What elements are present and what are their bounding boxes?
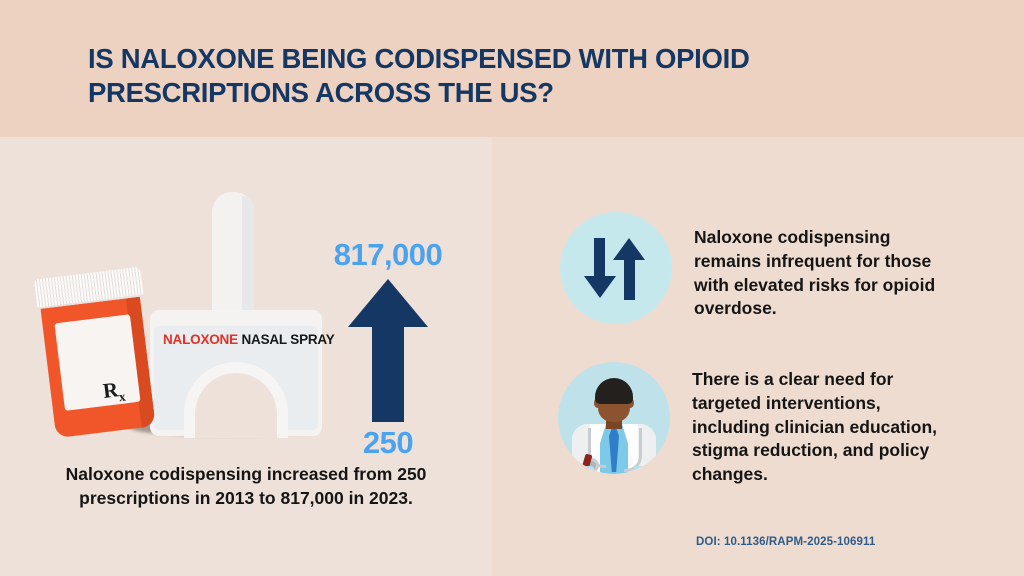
down-arrow-head (584, 276, 616, 298)
bottle-label (54, 314, 140, 411)
right-panel-background (492, 137, 1024, 576)
arrow-head (348, 279, 428, 327)
page-title: IS NALOXONE BEING CODISPENSED WITH OPIOI… (88, 42, 908, 109)
up-arrow-shaft (624, 256, 635, 300)
naloxone-nasal-spray-icon: NALOXONE NASAL SPRAY (150, 192, 340, 437)
spray-label: NALOXONE NASAL SPRAY (163, 332, 335, 347)
up-down-arrows-icon (560, 212, 672, 324)
stat-value-bottom: 250 (318, 425, 458, 461)
doi-reference[interactable]: DOI: 10.1136/RAPM-2025-106911 (696, 536, 875, 548)
up-arrow-head (613, 238, 645, 260)
finding-text-2: There is a clear need for targeted inter… (692, 362, 942, 487)
finding-item-2: There is a clear need for targeted inter… (558, 362, 942, 487)
infographic-canvas: IS NALOXONE BEING CODISPENSED WITH OPIOI… (0, 0, 1024, 576)
prescription-pill-bottle-icon: Rx (33, 267, 160, 439)
down-arrow-shaft (594, 238, 605, 280)
finding-item-1: Naloxone codispensing remains infrequent… (560, 212, 944, 324)
stat-value-top: 817,000 (318, 237, 458, 273)
doctor-cuff-left (574, 466, 594, 474)
doctor-avatar-icon (558, 362, 670, 474)
left-illustration: NALOXONE NASAL SPRAY Rx 817,000 250 (0, 137, 492, 467)
arrows-glyph (584, 238, 648, 300)
rx-symbol: Rx (102, 377, 127, 408)
arrow-shaft (372, 325, 404, 422)
doctor-cuff-right (634, 466, 656, 474)
spray-brand-text: NALOXONE (163, 332, 238, 347)
doctor-hair (595, 378, 633, 404)
doctor-glyph (558, 362, 670, 474)
finding-text-1: Naloxone codispensing remains infrequent… (694, 212, 944, 321)
up-arrow-icon (348, 279, 428, 422)
growth-statistic-group: 817,000 250 (318, 237, 458, 457)
spray-nozzle-shade (242, 196, 254, 322)
left-panel-caption: Naloxone codispensing increased from 250… (46, 463, 446, 510)
